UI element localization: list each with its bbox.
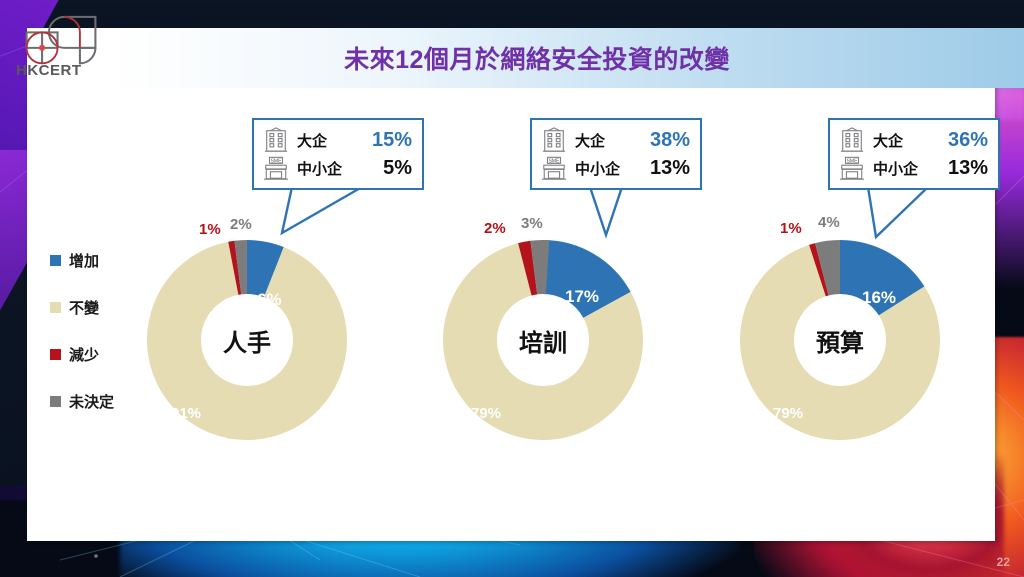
callout-row-large-enterprise: 大企 36% (838, 126, 988, 154)
callout-value-large-enterprise: 15% (372, 129, 412, 152)
slice-label-increase-training: 17% (565, 287, 599, 307)
legend-item-undecided: 未決定 (50, 391, 114, 412)
callout-tail-training (530, 185, 670, 245)
title-band: 未來12個月於網絡安全投資的改變 (110, 28, 1024, 88)
callout-tail-budget (820, 185, 960, 245)
callout-value-sme: 13% (948, 157, 988, 180)
legend-item-increase: 增加 (50, 250, 114, 271)
chart-group-budget: 預算 16% 79% 1% 4% (740, 240, 940, 440)
callout-label-sme: 中小企 (297, 158, 342, 179)
callout-tail-manpower (250, 185, 370, 245)
callout-row-sme: SME 中小企 13% (540, 154, 690, 182)
callout-row-sme: SME 中小企 13% (838, 154, 988, 182)
legend-swatch-increase (50, 255, 61, 266)
sme-shop-icon: SME (262, 155, 290, 181)
legend-label-increase: 增加 (69, 250, 99, 271)
donut-chart-budget: 預算 16% 79% 1% 4% (740, 240, 940, 440)
callout-row-sme: SME 中小企 5% (262, 154, 412, 182)
office-building-icon (540, 127, 568, 153)
callout-value-large-enterprise: 38% (650, 129, 690, 152)
callout-label-large-enterprise: 大企 (873, 130, 903, 151)
office-building-icon (838, 127, 866, 153)
legend-item-decrease: 減少 (50, 344, 114, 365)
chart-group-training: 培訓 17% 79% 2% 3% (443, 240, 643, 440)
legend-item-unchanged: 不變 (50, 297, 114, 318)
callout-manpower[interactable]: 大企 15% SME 中小企 5% (252, 118, 424, 190)
callout-label-large-enterprise: 大企 (575, 130, 605, 151)
slice-label-decrease-manpower: 1% (199, 221, 221, 238)
callout-label-sme: 中小企 (873, 158, 918, 179)
slice-label-decrease-training: 2% (484, 220, 506, 237)
slice-label-decrease-budget: 1% (780, 220, 802, 237)
callout-value-sme: 13% (650, 157, 690, 180)
legend-label-unchanged: 不變 (69, 297, 99, 318)
legend-swatch-decrease (50, 349, 61, 360)
chart-legend: 增加 不變 減少 未決定 (50, 250, 114, 412)
callout-value-sme: 5% (383, 157, 412, 180)
slice-label-increase-manpower: 6% (257, 290, 282, 310)
legend-swatch-undecided (50, 396, 61, 407)
office-building-icon (262, 127, 290, 153)
callout-label-large-enterprise: 大企 (297, 130, 327, 151)
page-number: 22 (997, 555, 1010, 569)
donut-chart-manpower: 人手 6% 91% 1% 2% (147, 240, 347, 440)
callout-label-sme: 中小企 (575, 158, 620, 179)
callout-training[interactable]: 大企 38% SME 中小企 13% (530, 118, 702, 190)
donut-chart-training: 培訓 17% 79% 2% 3% (443, 240, 643, 440)
donut-svg-budget (740, 240, 940, 440)
slice-label-unchanged-training: 79% (471, 405, 501, 422)
sme-icon-text: SME (847, 158, 859, 164)
hkcert-logo-text: HKCERT (16, 62, 82, 79)
legend-label-decrease: 減少 (69, 344, 99, 365)
slice-label-undecided-manpower: 2% (230, 216, 252, 233)
sme-icon-text: SME (271, 158, 283, 164)
slice-label-unchanged-budget: 79% (773, 405, 803, 422)
legend-swatch-unchanged (50, 302, 61, 313)
slide: HKCERT 未來12個月於網絡安全投資的改變 增加 不變 減少 未決定 (0, 0, 1024, 577)
sme-shop-icon: SME (838, 155, 866, 181)
sme-shop-icon: SME (540, 155, 568, 181)
sme-icon-text: SME (549, 158, 561, 164)
legend-label-undecided: 未決定 (69, 391, 114, 412)
callout-budget[interactable]: 大企 36% SME 中小企 13% (828, 118, 1000, 190)
chart-group-manpower: 人手 6% 91% 1% 2% (147, 240, 347, 440)
slice-label-unchanged-manpower: 91% (171, 405, 201, 422)
page-title: 未來12個月於網絡安全投資的改變 (344, 40, 730, 76)
callout-value-large-enterprise: 36% (948, 129, 988, 152)
callout-row-large-enterprise: 大企 15% (262, 126, 412, 154)
callout-row-large-enterprise: 大企 38% (540, 126, 690, 154)
slice-label-increase-budget: 16% (862, 288, 896, 308)
